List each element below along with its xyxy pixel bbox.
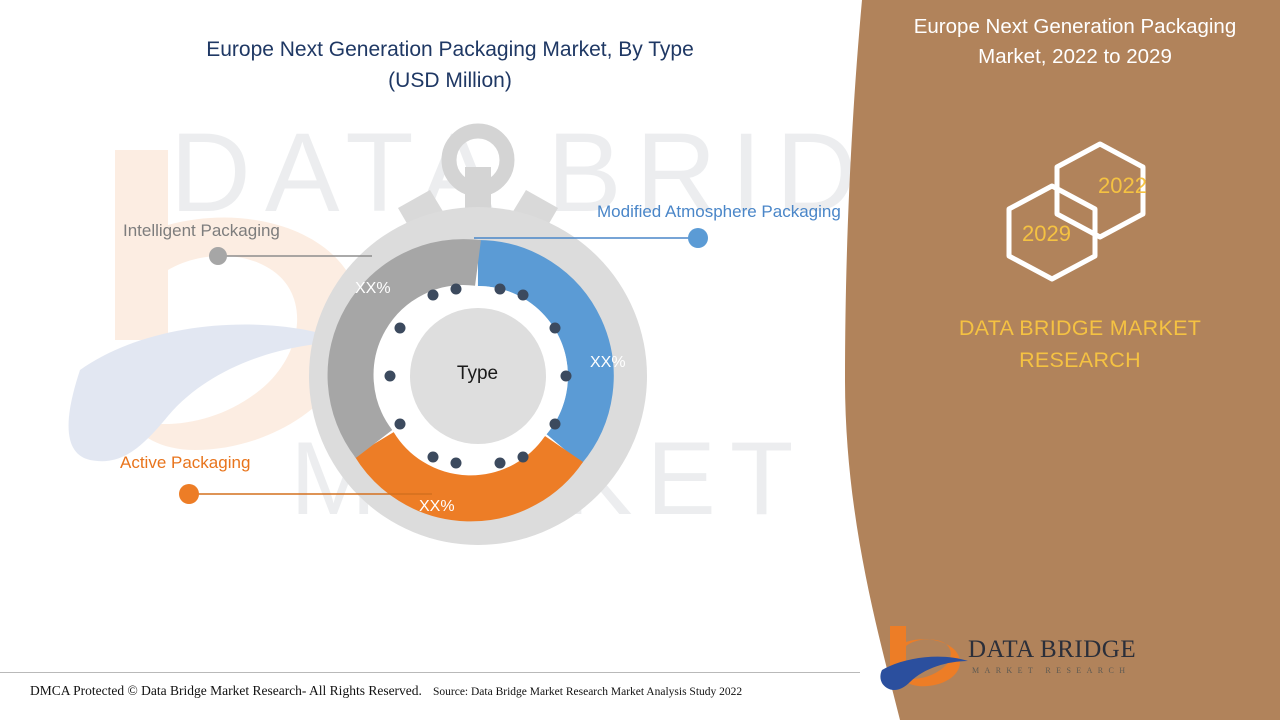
callout-marker-modified-atmosphere-packaging <box>688 228 708 248</box>
callout-marker-intelligent-packaging <box>209 247 227 265</box>
callout-label-intelligent-packaging: Intelligent Packaging <box>123 221 280 241</box>
page-title-line2: (USD Million) <box>60 65 840 96</box>
footer-source: Source: Data Bridge Market Research Mark… <box>433 686 742 698</box>
callout-label-modified-atmosphere-packaging: Modified Atmosphere Packaging <box>597 202 841 222</box>
callout-label-active-packaging: Active Packaging <box>120 453 250 473</box>
infographic-canvas: DATA BRIDGE MARKET RESEARCH Europe Next … <box>0 0 1280 720</box>
page-title-line1: Europe Next Generation Packaging Market,… <box>60 34 840 65</box>
callout-leader-lines <box>0 0 1280 720</box>
page-title: Europe Next Generation Packaging Market,… <box>60 34 840 96</box>
logo-name: DATA BRIDGE <box>968 636 1136 664</box>
footer-copyright: DMCA Protected © Data Bridge Market Rese… <box>30 683 422 699</box>
logo-tagline: MARKET RESEARCH <box>972 666 1130 675</box>
footer-divider <box>0 672 860 673</box>
callout-marker-active-packaging <box>179 484 199 504</box>
